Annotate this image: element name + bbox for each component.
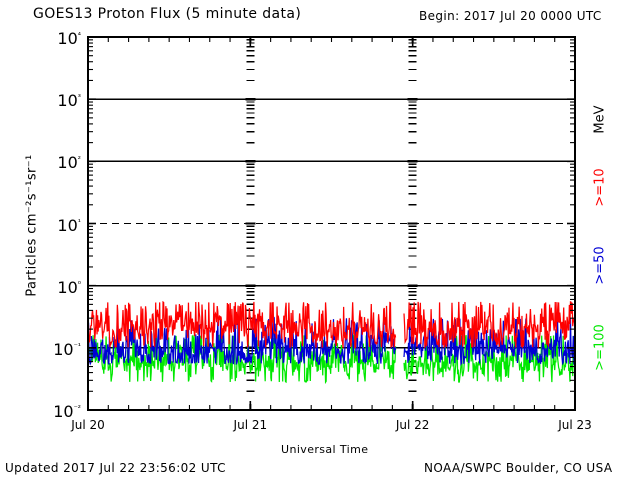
plot-canvas xyxy=(0,0,640,480)
goes-proton-flux-plot: GOES13 Proton Flux (5 minute data) Begin… xyxy=(0,0,640,480)
series-ge10mev xyxy=(88,302,575,348)
